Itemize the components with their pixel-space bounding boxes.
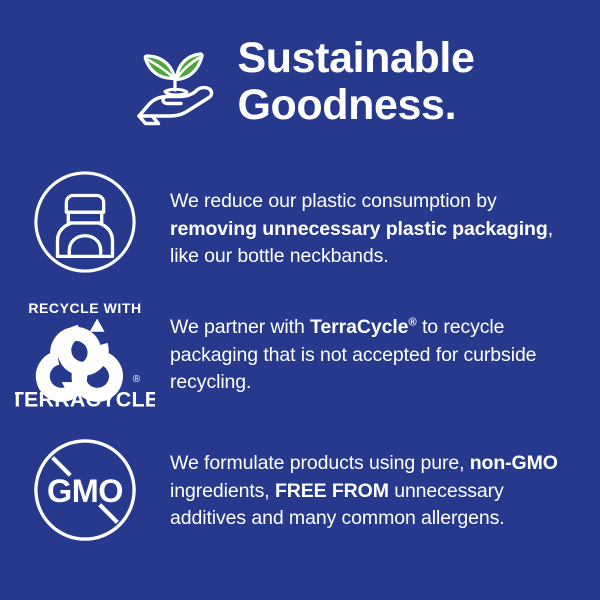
feature-row-non-gmo: GMO We formulate products using pure, no… bbox=[0, 436, 600, 544]
feature-text-terracycle: We partner with TerraCycle® to recycle p… bbox=[170, 300, 600, 397]
terracycle-logo-icon: RECYCLE WITH ® TERRACYCLE bbox=[0, 300, 170, 412]
page-title: Sustainable Goodness. bbox=[238, 35, 475, 129]
non-gmo-circle-icon: GMO bbox=[0, 436, 170, 544]
sustainable-goodness-panel: Sustainable Goodness. We reduce our plas… bbox=[0, 0, 600, 600]
feature-text-non-gmo: We formulate products using pure, non-GM… bbox=[170, 436, 600, 533]
gmo-label: GMO bbox=[47, 473, 123, 509]
feature-text-plastic-reduction: We reduce our plastic consumption by rem… bbox=[170, 168, 600, 271]
hand-holding-sprout-icon bbox=[126, 34, 226, 134]
bottle-neckband-circle-icon bbox=[0, 168, 170, 276]
terracycle-wordmark: TERRACYCLE bbox=[15, 387, 155, 411]
terracycle-registered-mark: ® bbox=[133, 374, 141, 385]
terracycle-top-label: RECYCLE WITH bbox=[28, 300, 141, 316]
feature-row-plastic-reduction: We reduce our plastic consumption by rem… bbox=[0, 168, 600, 276]
feature-row-terracycle: RECYCLE WITH ® TERRACYCLE We partn bbox=[0, 300, 600, 412]
header: Sustainable Goodness. bbox=[0, 26, 600, 138]
